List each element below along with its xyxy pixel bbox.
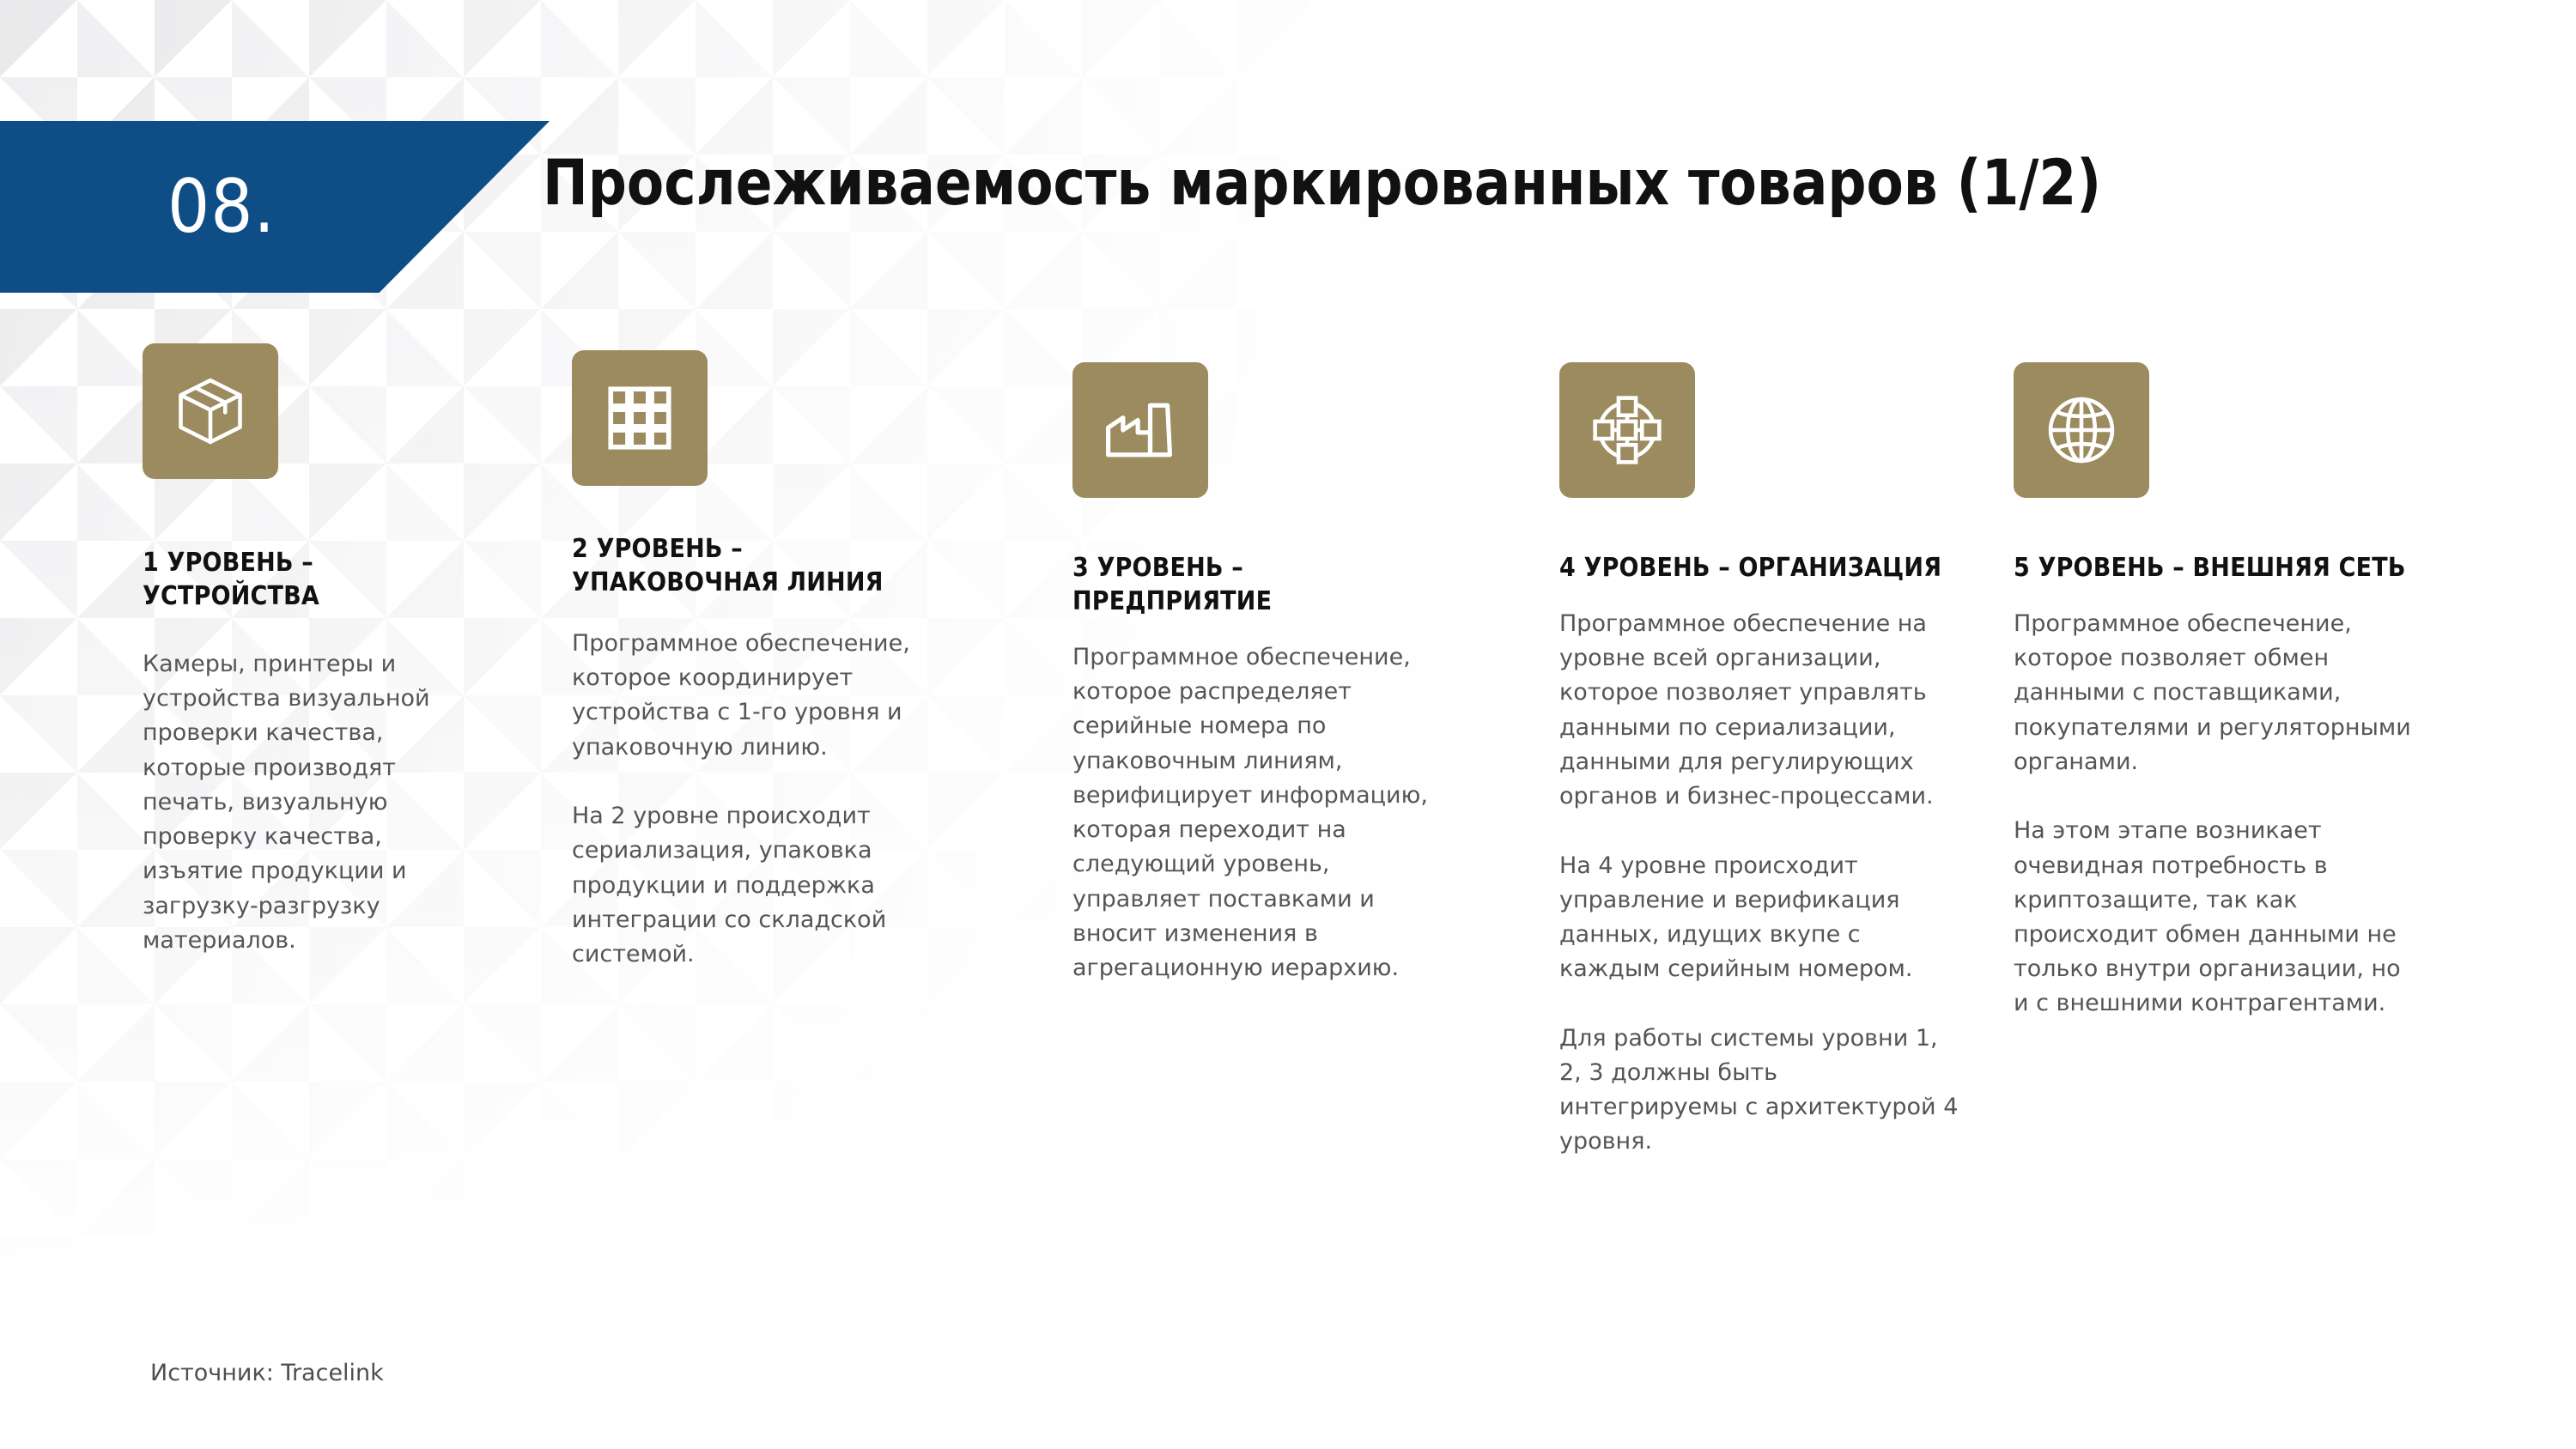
level-column-4: 4 УРОВЕНЬ – ОРГАНИЗАЦИЯ Программное обес… bbox=[1559, 343, 1963, 1160]
level-body: Камеры, принтеры и устройства визуальной… bbox=[143, 647, 486, 958]
level-body: Программное обеспечение, которое координ… bbox=[572, 627, 915, 972]
slide: 08. Прослеживаемость маркированных товар… bbox=[0, 0, 2576, 1449]
level-column-3: 3 УРОВЕНЬ – ПРЕДПРИЯТИЕ Программное обес… bbox=[1072, 343, 1433, 985]
network-nodes-icon bbox=[1559, 362, 1695, 498]
level-heading: 4 УРОВЕНЬ – ОРГАНИЗАЦИЯ bbox=[1559, 551, 1963, 585]
level-body: Программное обеспечение на уровне всей о… bbox=[1559, 607, 1963, 1160]
level-column-5: 5 УРОВЕНЬ – ВНЕШНЯЯ СЕТЬ Программное обе… bbox=[2014, 343, 2417, 1022]
level-heading: 2 УРОВЕНЬ – УПАКОВОЧНАЯ ЛИНИЯ bbox=[572, 532, 915, 599]
level-body: Программное обеспечение, которое позволя… bbox=[2014, 607, 2417, 1022]
level-heading: 3 УРОВЕНЬ – ПРЕДПРИЯТИЕ bbox=[1072, 551, 1433, 618]
level-column-1: 1 УРОВЕНЬ – УСТРОЙСТВА Камеры, принтеры … bbox=[143, 343, 486, 958]
levels-columns: 1 УРОВЕНЬ – УСТРОЙСТВА Камеры, принтеры … bbox=[0, 343, 2576, 1356]
level-body: Программное обеспечение, которое распред… bbox=[1072, 640, 1433, 985]
slide-number: 08. bbox=[167, 170, 276, 244]
level-heading: 1 УРОВЕНЬ – УСТРОЙСТВА bbox=[143, 546, 486, 613]
package-box-icon bbox=[143, 343, 278, 479]
level-heading: 5 УРОВЕНЬ – ВНЕШНЯЯ СЕТЬ bbox=[2014, 551, 2417, 585]
globe-icon bbox=[2014, 362, 2149, 498]
page-title: Прослеживаемость маркированных товаров (… bbox=[543, 151, 2462, 217]
source-note: Источник: Tracelink bbox=[150, 1358, 384, 1388]
factory-icon bbox=[1072, 362, 1208, 498]
level-column-2: 2 УРОВЕНЬ – УПАКОВОЧНАЯ ЛИНИЯ Программно… bbox=[572, 343, 915, 972]
grid-squares-icon bbox=[572, 350, 708, 486]
